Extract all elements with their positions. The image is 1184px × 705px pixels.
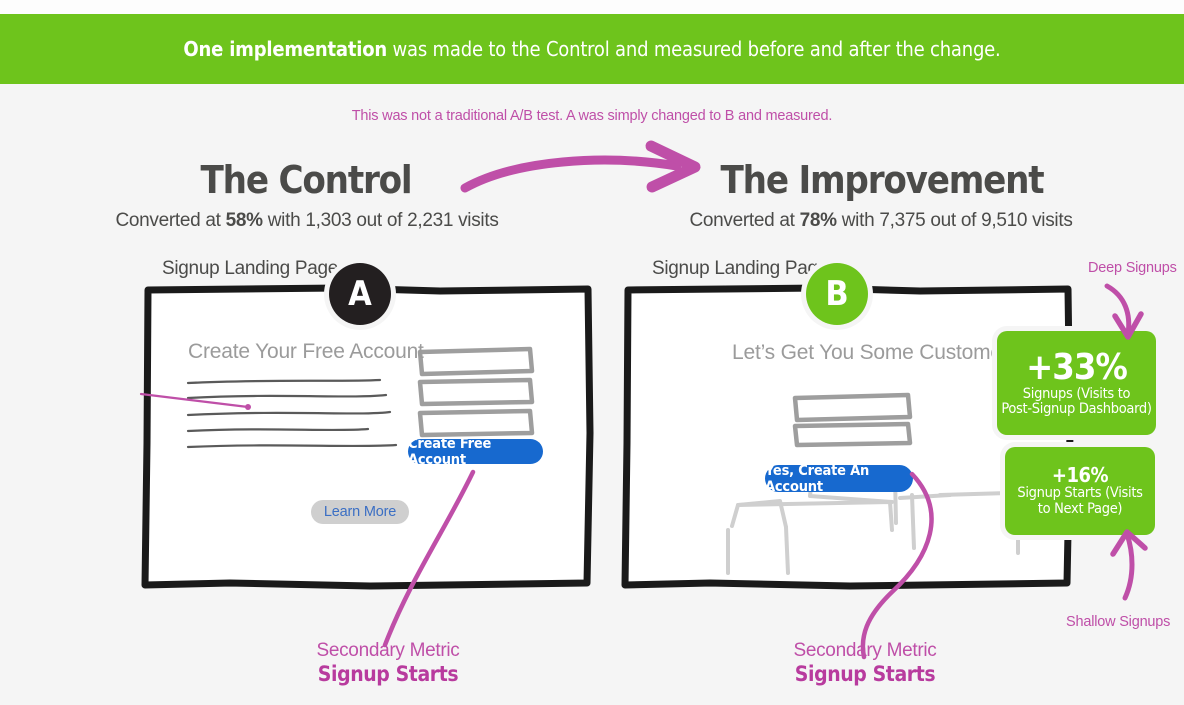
page-background: One implementation was made to the Contr… (0, 0, 1184, 705)
improvement-sub-suffix: with 7,375 out of 9,510 visits (837, 210, 1073, 231)
shallow-signups-arrow-icon (1105, 530, 1165, 602)
control-mock-headline: Create Your Free Account (188, 340, 424, 364)
control-rate: 58% (226, 210, 263, 231)
shallow-signups-annotation: Shallow Signups (1066, 614, 1170, 630)
headline-bold: One implementation (183, 37, 387, 61)
control-footnote-line1: Secondary Metric (268, 640, 508, 662)
control-sub-prefix: Converted at (115, 210, 225, 231)
deep-signups-caption-2: Post-Signup Dashboard) (997, 402, 1155, 417)
variant-a-badge: A (329, 263, 391, 325)
improvement-footnote-line1: Secondary Metric (745, 640, 985, 662)
top-white-strip (0, 0, 1184, 14)
control-subtitle: Converted at 58% with 1,303 out of 2,231… (0, 210, 614, 232)
deep-signups-value: +33% (1026, 349, 1127, 387)
headline-banner: One implementation was made to the Contr… (0, 14, 1184, 84)
control-footnote: Secondary Metric Signup Starts (268, 640, 508, 686)
improvement-footnote-line2: Signup Starts (745, 662, 985, 686)
headline-rest: was made to the Control and measured bef… (387, 37, 1001, 61)
control-secondary-metric-arrow-icon (355, 460, 500, 660)
control-sub-suffix: with 1,303 out of 2,231 visits (263, 210, 499, 231)
deep-signups-annotation: Deep Signups (1088, 260, 1177, 276)
improvement-footnote: Secondary Metric Signup Starts (745, 640, 985, 686)
variant-b-badge: B (806, 263, 868, 325)
deep-signups-callout: +33% Signups (Visits to Post-Signup Dash… (997, 331, 1156, 435)
control-form-pointer-line-icon (138, 385, 258, 420)
deep-signups-arrow-icon (1095, 282, 1155, 344)
improvement-mock-headline: Let’s Get You Some Customers (732, 341, 1019, 365)
improvement-panel-label: Signup Landing Page (652, 258, 828, 280)
subnote-text: This was not a traditional A/B test. A w… (0, 108, 1184, 124)
headline-text: One implementation was made to the Contr… (183, 37, 1000, 61)
improvement-secondary-metric-arrow-icon (830, 462, 975, 662)
improvement-subtitle: Converted at 78% with 7,375 out of 9,510… (574, 210, 1184, 232)
improvement-sub-prefix: Converted at (689, 210, 799, 231)
control-footnote-line2: Signup Starts (268, 662, 508, 686)
deep-signups-caption-1: Signups (Visits to (1019, 387, 1134, 402)
shallow-signups-callout: +16% Signup Starts (Visits to Next Page) (1005, 447, 1155, 535)
shallow-signups-value: +16% (1052, 465, 1108, 486)
shallow-signups-caption-2: to Next Page) (1034, 502, 1126, 517)
improvement-rate: 78% (800, 210, 837, 231)
shallow-signups-caption-1: Signup Starts (Visits (1013, 486, 1146, 501)
control-panel-label: Signup Landing Page (162, 258, 338, 280)
control-to-improvement-arrow-icon (455, 140, 715, 210)
